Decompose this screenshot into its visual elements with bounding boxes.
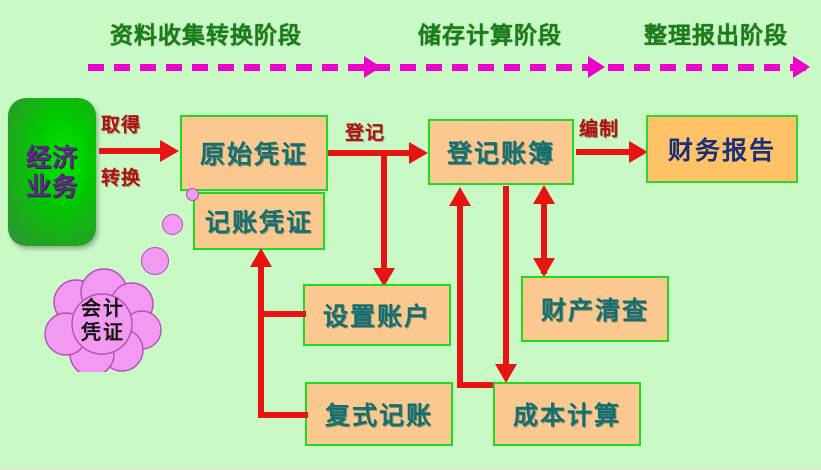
box-cost-calculation-label: 成本计算 <box>513 396 621 432</box>
box-double-entry-label: 复式记账 <box>325 396 433 432</box>
edge-label-acquire: 取得 <box>101 110 141 137</box>
arrowhead-up-ledger-property-icon <box>533 185 555 204</box>
connector-collector-vertical-to-bookkeeping <box>258 266 264 418</box>
box-original-voucher[interactable]: 原始凭证 <box>180 115 328 191</box>
start-block-line-1: 经济 <box>26 143 78 173</box>
box-setup-accounts[interactable]: 设置账户 <box>303 284 451 346</box>
phase-timeline-dashed-line <box>88 64 812 71</box>
box-financial-report-label: 财务报告 <box>668 131 776 167</box>
phase-label-2: 储存计算阶段 <box>418 16 562 50</box>
timeline-arrow-icon-1 <box>364 56 381 78</box>
box-bookkeeping-voucher[interactable]: 记账凭证 <box>193 192 325 250</box>
arrowhead-double-entry-to-ledger-icon <box>449 187 471 206</box>
diagram-canvas: 资料收集转换阶段 储存计算阶段 整理报出阶段 经济 业务 取得 转换 原始凭证 … <box>0 0 821 470</box>
connector-start-to-original <box>99 148 163 154</box>
box-property-inventory-label: 财产清查 <box>541 291 649 327</box>
box-setup-accounts-label: 设置账户 <box>323 297 431 333</box>
arrowhead-collector-to-bookkeeping-icon <box>250 248 272 267</box>
box-property-inventory[interactable]: 财产清查 <box>521 276 669 342</box>
phase-label-1: 资料收集转换阶段 <box>110 16 302 50</box>
connector-down-to-setup-accounts <box>381 150 387 272</box>
connector-ledger-to-report <box>576 149 632 155</box>
box-double-entry[interactable]: 复式记账 <box>305 382 453 446</box>
connector-double-entry-to-ledger-horizontal <box>457 382 493 388</box>
box-financial-report[interactable]: 财务报告 <box>646 115 798 183</box>
connector-setup-accounts-to-collector <box>258 311 306 317</box>
cloud-accounting-voucher: 会计 凭证 <box>42 268 164 372</box>
edge-label-convert: 转换 <box>101 163 141 190</box>
connector-double-entry-to-collector <box>258 412 308 418</box>
box-register-ledger-label: 登记账簿 <box>447 134 555 170</box>
phase-label-3: 整理报出阶段 <box>644 16 788 50</box>
thought-bubble-medium <box>162 214 183 235</box>
arrowhead-ledger-to-cost-calculation-icon <box>495 364 517 383</box>
timeline-arrow-icon-2 <box>588 56 605 78</box>
start-block-line-2: 业务 <box>26 172 78 202</box>
arrowhead-original-to-ledger-icon <box>409 142 428 164</box>
start-block-economic-business: 经济 业务 <box>8 98 96 246</box>
connector-original-to-ledger <box>328 150 412 156</box>
thought-bubble-large <box>141 247 169 275</box>
thought-bubble-small <box>186 188 199 201</box>
arrowhead-start-to-original-icon <box>160 140 179 162</box>
timeline-arrow-icon-3 <box>793 56 810 78</box>
box-register-ledger[interactable]: 登记账簿 <box>428 119 574 185</box>
connector-double-entry-to-ledger-vertical <box>457 206 463 388</box>
connector-ledger-to-cost-calculation <box>503 186 509 371</box>
box-bookkeeping-voucher-label: 记账凭证 <box>205 203 313 239</box>
edge-label-compile: 编制 <box>579 114 619 141</box>
edge-label-register: 登记 <box>345 118 385 145</box>
box-cost-calculation[interactable]: 成本计算 <box>493 382 641 446</box>
arrowhead-down-ledger-property-icon <box>533 258 555 277</box>
box-original-voucher-label: 原始凭证 <box>200 135 308 171</box>
